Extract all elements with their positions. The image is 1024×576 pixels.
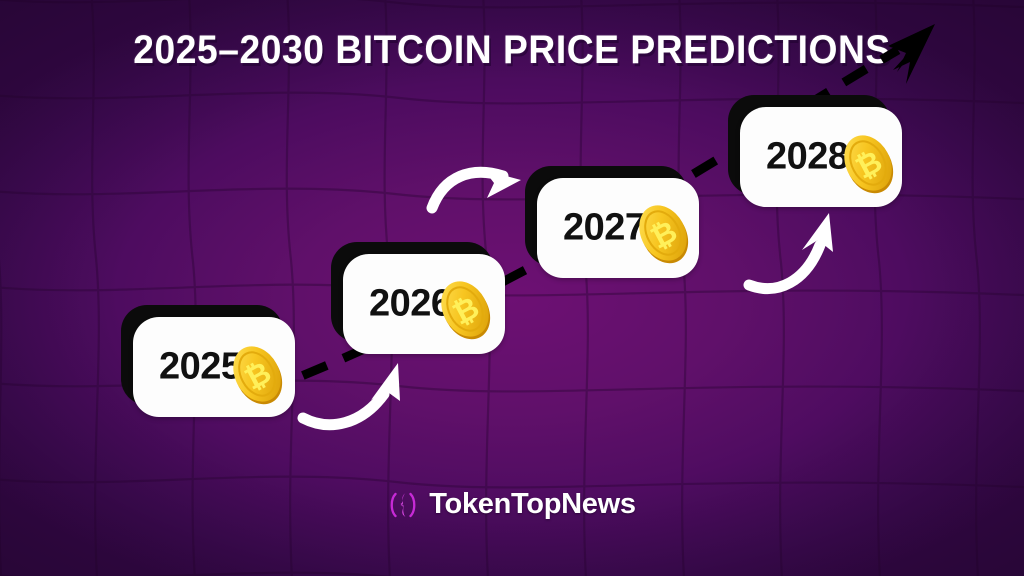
bitcoin-coin-icon-2025: ₿ xyxy=(222,339,292,409)
bitcoin-coin-icon-2027: ₿ xyxy=(628,198,698,268)
bitcoin-coin-icon-2028: ₿ xyxy=(833,128,903,198)
page-title: 2025–2030 BITCOIN PRICE PREDICTIONS xyxy=(36,28,988,73)
infographic-canvas: 2025–2030 BITCOIN PRICE PREDICTIONS 2025… xyxy=(0,0,1024,576)
tokentopnews-bracket-icon xyxy=(388,489,418,521)
bitcoin-coin-icon-2026: ₿ xyxy=(430,274,500,344)
brand-name: TokenTopNews xyxy=(429,488,635,521)
brand-logo[interactable]: TokenTopNews xyxy=(0,488,1024,521)
